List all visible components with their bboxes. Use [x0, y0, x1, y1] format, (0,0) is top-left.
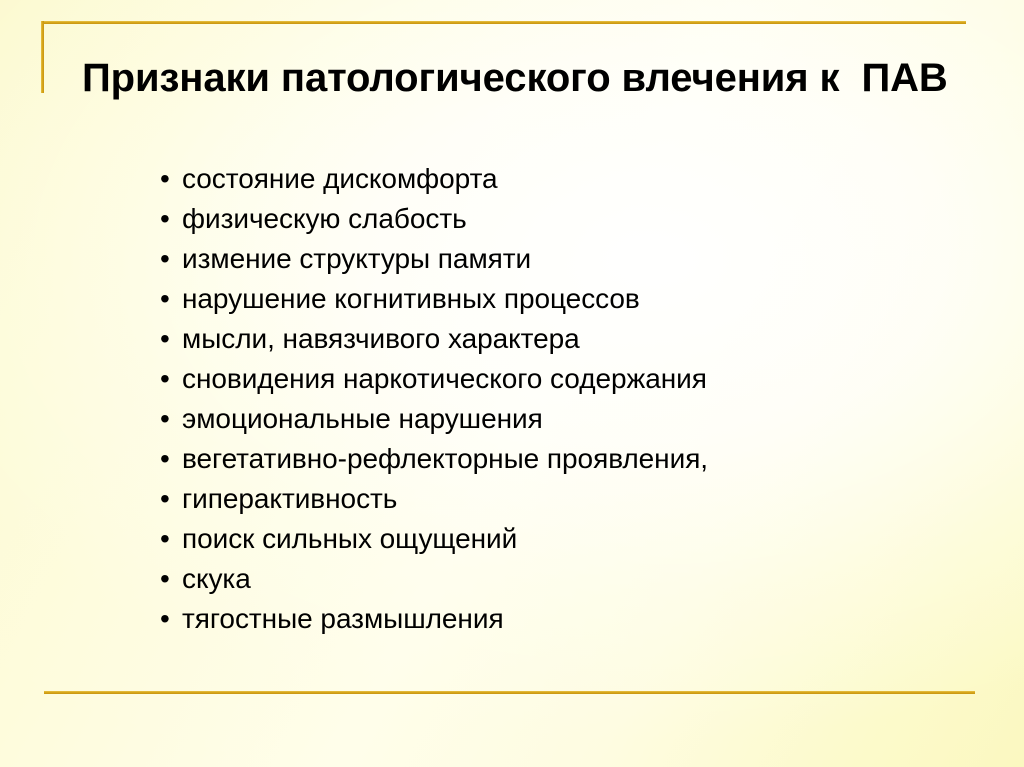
list-item-label: мысли, навязчивого характера: [182, 323, 580, 354]
bullet-dot-icon: •: [160, 239, 182, 279]
bullet-dot-icon: •: [160, 319, 182, 359]
list-item: •нарушение когнитивных процессов: [160, 279, 990, 319]
gold-rule-bottom: [44, 691, 975, 694]
bullet-dot-icon: •: [160, 559, 182, 599]
list-item-label: сновидения наркотического содержания: [182, 363, 707, 394]
bullet-list: •состояние дискомфорта•физическую слабос…: [160, 159, 990, 639]
list-item-label: вегетативно-рефлекторные проявления,: [182, 443, 708, 474]
list-item-label: тягостные размышления: [182, 603, 504, 634]
list-item-label: состояние дискомфорта: [182, 163, 498, 194]
list-item: •мысли, навязчивого характера: [160, 319, 990, 359]
slide-canvas: Признаки патологического влечения к ПАВ …: [0, 0, 1024, 767]
list-item: •измение структуры памяти: [160, 239, 990, 279]
bullet-dot-icon: •: [160, 439, 182, 479]
list-item: •состояние дискомфорта: [160, 159, 990, 199]
list-item: •сновидения наркотического содержания: [160, 359, 990, 399]
list-item: •поиск сильных ощущений: [160, 519, 990, 559]
bullet-dot-icon: •: [160, 399, 182, 439]
bullet-dot-icon: •: [160, 199, 182, 239]
gold-rule-left: [41, 21, 44, 93]
list-item-label: поиск сильных ощущений: [182, 523, 517, 554]
bullet-dot-icon: •: [160, 279, 182, 319]
bullet-dot-icon: •: [160, 519, 182, 559]
list-item: •скука: [160, 559, 990, 599]
bullet-dot-icon: •: [160, 479, 182, 519]
list-item-label: гиперактивность: [182, 483, 397, 514]
list-item: •физическую слабость: [160, 199, 990, 239]
list-item: •эмоциональные нарушения: [160, 399, 990, 439]
list-item: •вегетативно-рефлекторные проявления,: [160, 439, 990, 479]
bullet-dot-icon: •: [160, 159, 182, 199]
list-item-label: нарушение когнитивных процессов: [182, 283, 640, 314]
list-item-label: эмоциональные нарушения: [182, 403, 543, 434]
bullet-dot-icon: •: [160, 359, 182, 399]
gold-rule-top: [41, 21, 966, 24]
slide-title: Признаки патологического влечения к ПАВ: [82, 55, 982, 101]
list-item-label: физическую слабость: [182, 203, 467, 234]
bullet-dot-icon: •: [160, 599, 182, 639]
list-item: •гиперактивность: [160, 479, 990, 519]
list-item-label: измение структуры памяти: [182, 243, 531, 274]
list-item: •тягостные размышления: [160, 599, 990, 639]
list-item-label: скука: [182, 563, 251, 594]
